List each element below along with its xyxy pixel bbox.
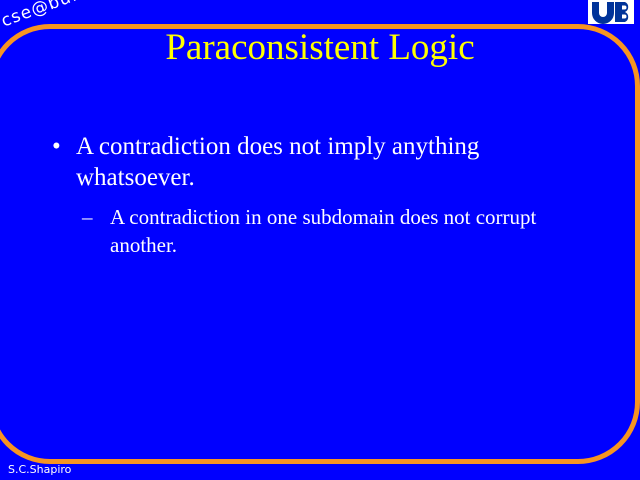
list-item-label: A contradiction in one subdomain does no…: [110, 205, 536, 257]
slide-body: • A contradiction does not imply anythin…: [46, 131, 600, 259]
ub-logo: [588, 0, 634, 24]
list-item-label: A contradiction does not imply anything …: [76, 133, 479, 191]
list-item: – A contradiction in one subdomain does …: [46, 203, 590, 259]
list-item: • A contradiction does not imply anythin…: [46, 131, 576, 193]
page-title: Paraconsistent Logic: [0, 27, 640, 69]
dash-marker-icon: –: [82, 203, 93, 231]
slide: cse@buffalo Paraconsistent Logic • A con…: [0, 0, 640, 480]
footer-author: S.C.Shapiro: [8, 463, 71, 476]
bullet-marker-icon: •: [52, 131, 61, 162]
